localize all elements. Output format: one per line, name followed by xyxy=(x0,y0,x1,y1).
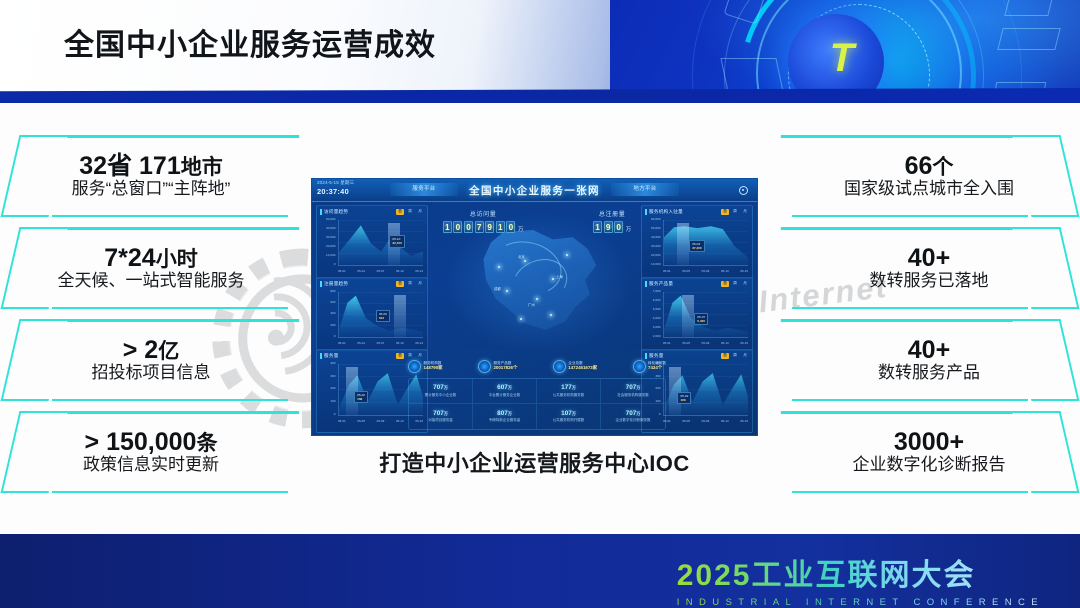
x-tick: 05-10 xyxy=(396,269,404,273)
y-axis: 50,000 40,000 30,000 20,000 10,000 0 xyxy=(321,218,337,266)
x-tick: 05-15 xyxy=(740,419,748,423)
slide-root: T 全国中小企业服务运营成效 工业互联网 Alliance of Industr… xyxy=(0,0,1080,608)
page-title: 全国中小企业服务运营成效 xyxy=(64,20,436,64)
chart-tooltip: 05-02 168 xyxy=(677,392,691,404)
panel-tabs: 日 周 月 xyxy=(721,209,749,215)
grid-stat-value: 807万 xyxy=(497,410,512,417)
panel-tab-week[interactable]: 周 xyxy=(731,353,739,359)
dashboard-title: 全国中小企业服务一张网 xyxy=(312,183,757,198)
grid-stat-cell: 177万 公共服务机构服务数 xyxy=(537,379,601,404)
dashboard-panel-institutions: 服务机构入驻量 日 周 月 60,000 50,000 40,000 30,00… xyxy=(641,205,753,279)
panel-tab-day[interactable]: 日 xyxy=(396,353,404,359)
panel-title: 服务量 xyxy=(324,353,339,359)
panel-title: 注册量趋势 xyxy=(324,281,348,287)
map-label: 北京 xyxy=(518,254,525,259)
badge-value: 7434个 xyxy=(648,365,666,371)
tooltip-value: 5,430 xyxy=(697,319,705,323)
area-series xyxy=(339,220,423,265)
dashboard-panel-products: 服务产品量 日 周 月 7,000 6,000 5,000 4,000 3,00… xyxy=(641,277,753,351)
kpi-digit: 0 xyxy=(464,221,473,233)
panel-tab-month[interactable]: 月 xyxy=(741,209,749,215)
panel-tab-day[interactable]: 日 xyxy=(721,353,729,359)
panel-tab-week[interactable]: 周 xyxy=(731,281,739,287)
y-tick: 20,000 xyxy=(326,245,335,248)
grid-stat-label: 公共服务机构服务数 xyxy=(553,393,585,398)
grid-stat-value: 707万 xyxy=(433,410,448,417)
panel-title: 服务产品量 xyxy=(649,281,673,287)
x-tick: 05-07 xyxy=(377,269,385,273)
dashboard-screenshot: 2024-5-15 星期三 20:37:40 全国中小企业服务一张网 服务平台 … xyxy=(311,178,758,436)
x-tick: 05-01 xyxy=(663,269,671,273)
x-tick: 05-01 xyxy=(338,419,346,423)
dashboard-panel-registrations: 注册量趋势 日 周 月 800 600 400 200 0 xyxy=(316,277,428,351)
shield-icon xyxy=(553,360,566,373)
map-city-dot xyxy=(550,314,552,316)
y-tick: 30,000 xyxy=(651,245,660,248)
y-tick: 300 xyxy=(330,375,335,378)
dashboard-tab-local-platform[interactable]: 地方平台 xyxy=(611,183,679,196)
kpi-digit: 0 xyxy=(506,221,515,233)
x-tick: 05-05 xyxy=(682,419,690,423)
tooltip-value: 32,150 xyxy=(392,241,401,245)
tooltip-value: 37,200 xyxy=(692,246,701,250)
stat-number: 40+ xyxy=(908,245,950,271)
y-tick: 0 xyxy=(334,335,336,338)
chart-tooltip: 05-03 37,200 xyxy=(689,240,704,252)
x-axis: 05-01 05-05 05-09 05-13 05-15 xyxy=(663,417,748,424)
stat-number: > 2亿 xyxy=(123,337,179,363)
panel-tabs: 日 周 月 xyxy=(396,281,424,287)
y-axis: 60,000 50,000 40,000 30,000 20,000 10,00… xyxy=(646,218,662,266)
x-tick: 05-09 xyxy=(702,269,710,273)
map-label: 成都 xyxy=(494,286,501,291)
kpi-digit: 0 xyxy=(614,221,623,233)
x-tick: 05-01 xyxy=(663,341,671,345)
grid-stat-value: 707万 xyxy=(626,410,641,417)
x-tick: 05-15 xyxy=(740,269,748,273)
y-axis: 7,000 6,000 5,000 4,000 3,000 2,000 xyxy=(646,290,662,338)
grid-stat-cell: 107万 公共服务机构开展数 xyxy=(537,404,601,429)
kpi-digit: 9 xyxy=(604,221,613,233)
grid-stat-cell: 707万 对接项目服务量 xyxy=(409,404,473,429)
stat-card-right-2: 40+ 数转服务已落地 xyxy=(784,227,1074,309)
y-tick: 600 xyxy=(330,301,335,304)
map-label: 广州 xyxy=(528,302,535,307)
panel-header: 注册量趋势 日 周 月 xyxy=(317,278,427,289)
panel-tab-day[interactable]: 日 xyxy=(721,209,729,215)
chart-institutions: 60,000 50,000 40,000 30,000 20,000 10,00… xyxy=(646,218,748,274)
panel-tab-day[interactable]: 日 xyxy=(396,209,404,215)
conference-logo: 2025工业互联网大会 INDUSTRIAL INTERNET CONFEREN… xyxy=(677,550,1044,608)
x-tick: 05-09 xyxy=(702,419,710,423)
y-tick: 50,000 xyxy=(651,227,660,230)
panel-tab-month[interactable]: 月 xyxy=(416,281,424,287)
kpi-value: 1 0 0 7 9 1 0 万 xyxy=(443,221,524,233)
stat-card-left-4: > 150,000条 政策信息实时更新 xyxy=(6,411,296,493)
y-tick: 7,000 xyxy=(653,290,661,293)
stat-card-left-2: 7*24小时 全天候、一站式智能服务 xyxy=(6,227,296,309)
x-tick: 05-15 xyxy=(740,341,748,345)
x-axis: 05-01 05-05 05-09 05-13 05-15 xyxy=(663,267,748,274)
stat-number: 66个 xyxy=(905,153,954,179)
kpi-total-registrations: 总注册量 1 9 0 万 xyxy=(593,209,631,249)
y-tick: 0 xyxy=(334,263,336,266)
plot-area: 05-02 168 xyxy=(663,364,748,416)
map-label: 上海 xyxy=(556,274,563,279)
dashboard-panel-visits: 访问量趋势 日 周 月 50,000 40,000 30,000 20,000 … xyxy=(316,205,428,279)
y-tick: 800 xyxy=(330,290,335,293)
header-tech-graphic: T xyxy=(610,0,1080,103)
hud-speck-icon xyxy=(720,58,783,92)
chart-products: 7,000 6,000 5,000 4,000 3,000 2,000 05-0… xyxy=(646,290,748,346)
grid-stat-label: 对接项目服务量 xyxy=(428,418,453,423)
chart-tooltip: 05-07 5,430 xyxy=(694,313,708,325)
grid-stat-label: 平台累计服务企业数 xyxy=(489,393,521,398)
header-accent-bar xyxy=(0,88,1080,103)
kpi-unit: 万 xyxy=(626,225,631,233)
panel-tabs: 日 周 月 xyxy=(721,353,749,359)
y-tick: 3,000 xyxy=(653,326,661,329)
x-tick: 05-01 xyxy=(338,269,346,273)
map-city-dot xyxy=(520,318,522,320)
y-axis: 800 600 400 200 0 xyxy=(321,290,337,338)
stat-description: 国家级试点城市全入围 xyxy=(844,180,1014,199)
badge-value: 148790家 xyxy=(424,365,443,371)
x-tick: 05-13 xyxy=(415,341,423,345)
hud-speck-icon xyxy=(997,28,1060,50)
conference-logo-en: INDUSTRIAL INTERNET CONFERENCE xyxy=(677,597,1044,608)
panel-tab-week[interactable]: 周 xyxy=(406,281,414,287)
stat-number: 40+ xyxy=(908,337,950,363)
plot-area: 05-10 32,150 xyxy=(338,220,423,266)
y-tick: 400 xyxy=(330,362,335,365)
x-tick: 05-05 xyxy=(682,269,690,273)
dashboard-grid-stats: 707万 累计服务中小企业数 607万 平台累计服务企业数 177万 公共服务机… xyxy=(408,378,666,430)
kpi-digit: 9 xyxy=(485,221,494,233)
panel-title: 服务机构入驻量 xyxy=(649,209,683,215)
chart-tooltip: 05-10 32,150 xyxy=(389,235,404,247)
grid-stat-label: 累计服务中小企业数 xyxy=(425,393,457,398)
panel-tab-month[interactable]: 月 xyxy=(416,209,424,215)
x-axis: 05-01 05-04 05-07 05-10 05-13 xyxy=(338,267,423,274)
grid-stat-label: 社会服务机构服务数 xyxy=(617,393,649,398)
panel-tab-week[interactable]: 周 xyxy=(406,209,414,215)
y-tick: 60,000 xyxy=(651,218,660,221)
chart-registrations: 800 600 400 200 0 05-09 612 05-01 05 xyxy=(321,290,423,346)
panel-tabs: 日 周 月 xyxy=(396,209,424,215)
x-tick: 05-04 xyxy=(357,341,365,345)
x-axis: 05-01 05-04 05-07 05-10 05-13 xyxy=(338,339,423,346)
x-axis: 05-01 05-05 05-09 05-13 05-15 xyxy=(663,339,748,346)
dashboard-tab-service-platform[interactable]: 服务平台 xyxy=(390,183,458,196)
x-tick: 05-13 xyxy=(396,419,404,423)
y-tick: 40,000 xyxy=(651,236,660,239)
stat-description: 数转服务已落地 xyxy=(870,272,989,291)
plot-area: 05-07 5,430 xyxy=(663,292,748,338)
y-tick: 40,000 xyxy=(326,227,335,230)
shield-icon xyxy=(408,360,421,373)
stat-card-left-3: > 2亿 招投标项目信息 xyxy=(6,319,296,401)
badge-value: 1472451673家 xyxy=(568,365,597,371)
stat-description: 企业数字化诊断报告 xyxy=(853,456,1006,475)
y-tick: 400 xyxy=(330,312,335,315)
y-tick: 2,000 xyxy=(653,335,661,338)
y-tick: 5,000 xyxy=(653,308,661,311)
stat-description: 服务“总窗口”“主阵地” xyxy=(72,180,231,199)
grid-stat-cell: 707万 社会服务机构服务数 xyxy=(601,379,665,404)
grid-stat-value: 607万 xyxy=(497,384,512,391)
panel-tab-day[interactable]: 日 xyxy=(396,281,404,287)
x-tick: 05-05 xyxy=(357,419,365,423)
y-tick: 10,000 xyxy=(651,263,660,266)
x-tick: 05-01 xyxy=(338,341,346,345)
y-tick: 0 xyxy=(334,413,336,416)
x-tick: 05-07 xyxy=(377,341,385,345)
stat-number: 7*24小时 xyxy=(104,245,197,271)
hud-speck-icon xyxy=(1004,0,1055,16)
y-tick: 50,000 xyxy=(326,218,335,221)
chart-visits: 50,000 40,000 30,000 20,000 10,000 0 05-… xyxy=(321,218,423,274)
y-tick: 6,000 xyxy=(653,299,661,302)
grid-stat-value: 107万 xyxy=(561,410,576,417)
hover-highlight-bar xyxy=(682,295,694,337)
panel-tab-month[interactable]: 月 xyxy=(741,281,749,287)
shield-icon xyxy=(478,360,491,373)
panel-tab-month[interactable]: 月 xyxy=(741,353,749,359)
kpi-digit: 1 xyxy=(593,221,602,233)
grid-stat-value: 707万 xyxy=(626,384,641,391)
dashboard-badge-row: 服务机构数 148790家 服务产品数 20017826个 企业总数 14724… xyxy=(408,357,666,375)
y-tick: 4,000 xyxy=(653,317,661,320)
x-tick: 05-13 xyxy=(721,269,729,273)
panel-tab-week[interactable]: 周 xyxy=(731,209,739,215)
stat-card-right-3: 40+ 数转服务产品 xyxy=(784,319,1074,401)
stat-number: 32省 171地市 xyxy=(79,153,222,179)
chart-tooltip: 05-02 168 xyxy=(354,391,368,403)
kpi-label: 总注册量 xyxy=(593,209,631,218)
badge-item: 服务机构数 148790家 xyxy=(408,360,443,373)
x-tick: 05-04 xyxy=(357,269,365,273)
gear-icon[interactable] xyxy=(739,186,748,195)
x-tick: 05-13 xyxy=(721,341,729,345)
kpi-digit: 1 xyxy=(496,221,505,233)
y-tick: 20,000 xyxy=(651,254,660,257)
y-tick: 200 xyxy=(330,387,335,390)
tooltip-value: 168 xyxy=(680,398,685,402)
panel-header: 服务机构入驻量 日 周 月 xyxy=(642,206,752,217)
y-axis: 400 300 200 100 0 xyxy=(321,362,337,416)
grid-stat-label: 企业数字化诊断服务数 xyxy=(616,418,651,423)
map-city-dot xyxy=(506,290,508,292)
dashboard-caption: 打造中小企业运营服务中心IOC xyxy=(311,446,758,478)
grid-stat-cell: 707万 累计服务中小企业数 xyxy=(409,379,473,404)
plot-area: 05-03 37,200 xyxy=(663,220,748,266)
kpi-unit: 万 xyxy=(518,225,523,233)
x-tick: 05-09 xyxy=(702,341,710,345)
slide-header: T 全国中小企业服务运营成效 xyxy=(0,0,1080,103)
kpi-digit: 7 xyxy=(475,221,484,233)
tooltip-value: 168 xyxy=(357,397,362,401)
kpi-digit: 0 xyxy=(453,221,462,233)
grid-stat-cell: 707万 企业数字化诊断服务数 xyxy=(601,404,665,429)
stat-card-left-1: 32省 171地市 服务“总窗口”“主阵地” xyxy=(6,135,296,217)
y-tick: 200 xyxy=(330,324,335,327)
x-tick: 05-13 xyxy=(721,419,729,423)
hover-highlight-bar xyxy=(677,223,689,265)
stat-card-right-4: 3000+ 企业数字化诊断报告 xyxy=(784,411,1074,493)
panel-tabs: 日 周 月 xyxy=(721,281,749,287)
hover-highlight-bar xyxy=(394,295,406,337)
map-city-dot xyxy=(566,254,568,256)
grid-stat-value: 707万 xyxy=(433,384,448,391)
grid-stat-cell: 607万 平台累计服务企业数 xyxy=(473,379,537,404)
slide-footer: 2025工业互联网大会 INDUSTRIAL INTERNET CONFEREN… xyxy=(0,534,1080,608)
kpi-value: 1 9 0 万 xyxy=(593,221,631,233)
grid-stat-label: 公共服务机构开展数 xyxy=(553,418,585,423)
panel-title: 访问量趋势 xyxy=(324,209,348,215)
stat-description: 政策信息实时更新 xyxy=(83,456,219,475)
kpi-total-visits: 总访问量 1 0 0 7 9 1 0 万 xyxy=(443,209,524,249)
plot-area: 05-09 612 xyxy=(338,292,423,338)
tooltip-value: 612 xyxy=(379,316,384,320)
stat-card-right-1: 66个 国家级试点城市全入围 xyxy=(784,135,1074,217)
conference-logo-cn: 2025工业互联网大会 xyxy=(677,550,1044,594)
x-tick: 05-05 xyxy=(682,341,690,345)
badge-item: 转化服务数 7434个 xyxy=(633,360,666,373)
y-tick: 30,000 xyxy=(326,236,335,239)
shield-icon xyxy=(633,360,646,373)
badge-value: 20017826个 xyxy=(493,365,517,371)
panel-header: 访问量趋势 日 周 月 xyxy=(317,206,427,217)
stat-description: 全天候、一站式智能服务 xyxy=(58,272,245,291)
badge-item: 企业总数 1472451673家 xyxy=(553,360,597,373)
panel-header: 服务产品量 日 周 月 xyxy=(642,278,752,289)
x-tick: 05-09 xyxy=(377,419,385,423)
stat-description: 招投标项目信息 xyxy=(92,364,211,383)
x-tick: 05-10 xyxy=(396,341,404,345)
stat-number: 3000+ xyxy=(894,429,964,455)
brand-t-logo-icon: T xyxy=(830,36,852,81)
stat-number: > 150,000条 xyxy=(85,429,218,455)
stat-description: 数转服务产品 xyxy=(878,364,980,383)
kpi-digit: 1 xyxy=(443,221,452,233)
grid-stat-cell: 807万 专精特新企业服务量 xyxy=(473,404,537,429)
grid-stat-label: 专精特新企业服务量 xyxy=(489,418,521,423)
y-tick: 100 xyxy=(330,400,335,403)
x-tick: 05-13 xyxy=(415,269,423,273)
badge-item: 服务产品数 20017826个 xyxy=(478,360,517,373)
y-tick: 10,000 xyxy=(326,254,335,257)
grid-stat-value: 177万 xyxy=(561,384,576,391)
kpi-counters: 总访问量 1 0 0 7 9 1 0 万 总注册量 1 9 0 xyxy=(408,209,666,249)
panel-tab-day[interactable]: 日 xyxy=(721,281,729,287)
kpi-label: 总访问量 xyxy=(443,209,524,218)
chart-tooltip: 05-09 612 xyxy=(376,310,390,322)
